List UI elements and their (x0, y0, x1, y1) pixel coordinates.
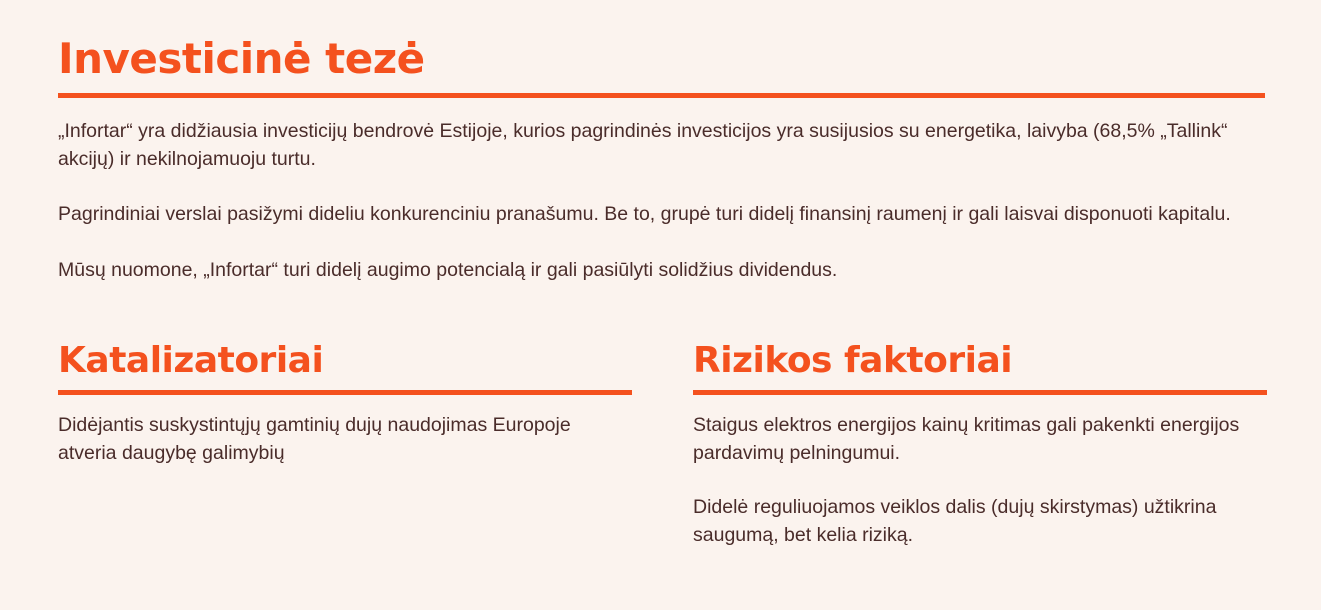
catalysts-heading-wrap: Katalizatoriai (58, 343, 632, 379)
investment-thesis-section: Investicinė tezė „Infortar“ yra didžiaus… (58, 38, 1265, 285)
catalysts-section: Katalizatoriai Didėjantis suskystintųjų … (58, 343, 632, 550)
catalysts-heading: Katalizatoriai (58, 343, 632, 379)
risk-factors-heading-wrap: Rizikos faktoriai (693, 343, 1267, 379)
investment-thesis-heading-wrap: Investicinė tezė (58, 38, 1265, 80)
risk-factors-body: Staigus elektros energijos kainų kritima… (693, 412, 1267, 550)
catalysts-body: Didėjantis suskystintųjų gamtinių dujų n… (58, 412, 632, 467)
slide-root: Investicinė tezė „Infortar“ yra didžiaus… (0, 0, 1321, 610)
risk-factors-paragraph-1: Staigus elektros energijos kainų kritima… (693, 412, 1267, 467)
page-title: Investicinė tezė (58, 38, 1265, 80)
risk-factors-section: Rizikos faktoriai Staigus elektros energ… (693, 343, 1267, 550)
investment-thesis-body: „Infortar“ yra didžiausia investicijų be… (58, 118, 1265, 285)
risk-factors-paragraph-2: Didelė reguliuojamos veiklos dalis (dujų… (693, 494, 1267, 549)
catalysts-paragraph-1: Didėjantis suskystintųjų gamtinių dujų n… (58, 412, 632, 467)
catalysts-divider (58, 390, 632, 395)
investment-thesis-paragraph-1: „Infortar“ yra didžiausia investicijų be… (58, 118, 1265, 173)
investment-thesis-paragraph-2: Pagrindiniai verslai pasižymi dideliu ko… (58, 201, 1265, 229)
investment-thesis-divider (58, 93, 1265, 98)
bottom-columns: Katalizatoriai Didėjantis suskystintųjų … (58, 343, 1265, 550)
risk-factors-divider (693, 390, 1267, 395)
investment-thesis-paragraph-3: Mūsų nuomone, „Infortar“ turi didelį aug… (58, 257, 1265, 285)
risk-factors-heading: Rizikos faktoriai (693, 343, 1267, 379)
